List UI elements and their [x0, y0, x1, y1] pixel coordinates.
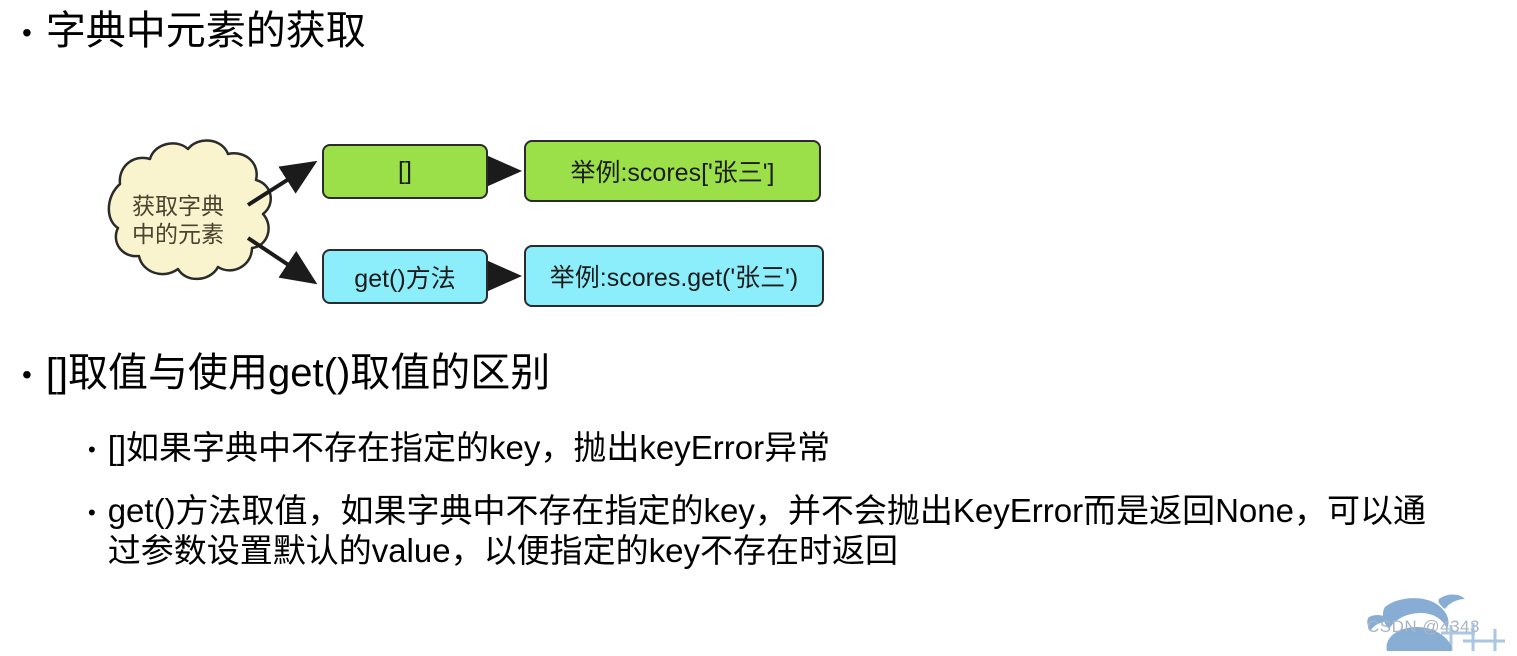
- sub-bullet-bracket-error-label: []如果字典中不存在指定的key，抛出keyError异常: [108, 428, 830, 468]
- sub-bullet-get-behavior-label: get()方法取值，如果字典中不存在指定的key，并不会抛出KeyError而是…: [108, 491, 1438, 572]
- node-example-get-label: 举例:scores.get('张三'): [550, 258, 798, 294]
- heading-bullet-one: • 字典中元素的获取: [22, 10, 366, 52]
- bullet-marker: •: [88, 491, 96, 524]
- watermark-label: CSDN @4343: [1367, 617, 1480, 637]
- cloud-shape: [109, 140, 271, 278]
- node-bracket-operator: []: [322, 144, 488, 199]
- bullet-marker: •: [22, 352, 32, 389]
- node-example-get: 举例:scores.get('张三'): [524, 245, 824, 307]
- node-bracket-operator-label: []: [398, 157, 412, 186]
- node-example-bracket-label: 举例:scores['张三']: [570, 153, 774, 189]
- node-get-method-label: get()方法: [354, 259, 455, 295]
- bullet-marker: •: [88, 428, 96, 461]
- bullet-marker: •: [22, 10, 32, 47]
- csdn-watermark: CSDN @4343: [1355, 589, 1515, 651]
- node-example-bracket: 举例:scores['张三']: [524, 140, 821, 202]
- node-get-method: get()方法: [322, 249, 488, 304]
- heading-bullet-two: • []取值与使用get()取值的区别: [22, 352, 550, 394]
- dict-access-flow-diagram: 获取字典 中的元素 [] 举例:scores['张三'] get()方法 举例:…: [0, 112, 900, 332]
- sub-bullet-bracket-error: • []如果字典中不存在指定的key，抛出keyError异常: [88, 428, 830, 468]
- sub-bullet-get-behavior: • get()方法取值，如果字典中不存在指定的key，并不会抛出KeyError…: [88, 491, 1488, 572]
- edge-cloud-to-getmethod: [248, 238, 314, 282]
- heading-one-label: 字典中元素的获取: [46, 10, 366, 52]
- heading-two-label: []取值与使用get()取值的区别: [46, 352, 550, 394]
